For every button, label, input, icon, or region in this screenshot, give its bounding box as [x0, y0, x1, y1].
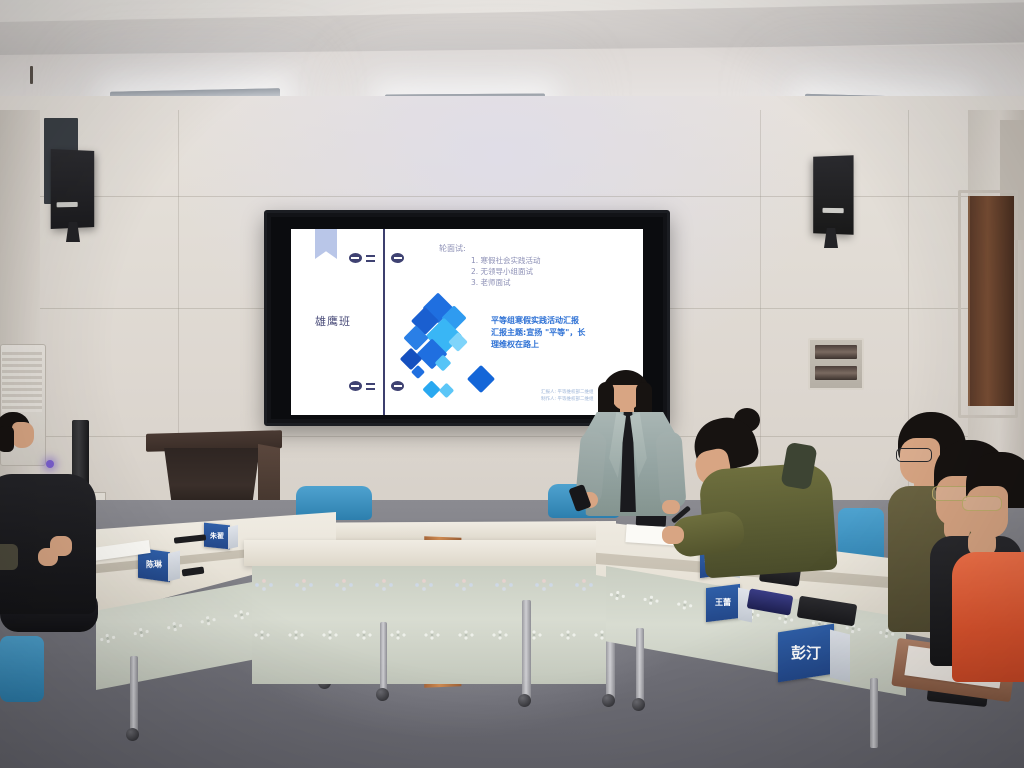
equals-icon [366, 255, 375, 262]
name-card-text: 陈琳 [138, 559, 170, 570]
table-caster [376, 688, 389, 701]
table-caster [602, 694, 615, 707]
table-leg [870, 678, 878, 748]
name-card[interactable]: 王蕾 [706, 586, 752, 622]
table-caster [126, 728, 139, 741]
bullet-icon [349, 381, 362, 391]
slide-title-line: 理维权在路上 [491, 339, 631, 351]
photo-scene: 雄鹰班 轮面试: 1. 寒假社会实践活动 2. 无领导小组面试 3. 老师面试 [0, 0, 1024, 768]
slide-divider [383, 229, 385, 415]
slide-class-label: 雄鹰班 [315, 313, 351, 329]
slide-list-item: 3. 老师面试 [471, 277, 541, 288]
speaker-label [57, 202, 78, 207]
name-card[interactable]: 陈琳 [138, 550, 180, 582]
table-leg [636, 628, 644, 702]
slide-list: 1. 寒假社会实践活动 2. 无领导小组面试 3. 老师面试 [471, 255, 541, 288]
glasses-icon [896, 448, 932, 462]
slide-heading: 轮面试: [439, 243, 466, 254]
table-leg [130, 656, 138, 732]
name-card-text: 彭汀 [778, 642, 834, 663]
slide-list-item: 2. 无领导小组面试 [471, 266, 541, 277]
bullet-icon [349, 253, 362, 263]
person-attendee-olive [686, 408, 866, 588]
name-card-text: 朱翟 [204, 531, 230, 541]
slide-title-line: 汇报主题:宣扬 "平等"，长 [491, 327, 631, 339]
bullet-icon [391, 253, 404, 263]
ceiling-hook [30, 66, 33, 84]
table-caster [518, 694, 531, 707]
glasses-icon [962, 496, 1002, 511]
name-card-text: 王蕾 [706, 597, 740, 608]
slide-list-item: 1. 寒假社会实践活动 [471, 255, 541, 266]
attendee-left-sleeve [0, 544, 18, 570]
modesty-panel-center [252, 566, 608, 684]
panel-pattern [252, 578, 608, 592]
slide-title: 平等组寒假实践活动汇报 汇报主题:宣扬 "平等"，长 理维权在路上 [491, 315, 631, 351]
person-attendee-left-front [0, 424, 104, 624]
slide-title-line: 平等组寒假实践活动汇报 [491, 315, 631, 327]
chair[interactable] [0, 636, 44, 702]
table-leg [522, 600, 531, 700]
speaker-label [823, 208, 844, 213]
person-attendee-orange [962, 452, 1024, 652]
wall-speaker-left [51, 149, 95, 229]
panel-pattern [252, 628, 608, 642]
name-card[interactable]: 朱翟 [204, 524, 238, 550]
door-right[interactable] [968, 196, 1014, 406]
wall-speaker-right [813, 155, 853, 235]
table-leg [380, 622, 387, 692]
ribbon-icon [315, 229, 337, 259]
wall-seam [0, 196, 1024, 197]
ac-vent [2, 352, 42, 412]
table-caster [632, 698, 645, 711]
name-card[interactable]: 彭汀 [778, 628, 850, 682]
electrical-panel[interactable] [808, 338, 864, 390]
equals-icon [366, 383, 375, 390]
attendee-hoodie-orange [952, 552, 1024, 682]
table-center [244, 540, 616, 566]
person-presenter [566, 366, 694, 536]
